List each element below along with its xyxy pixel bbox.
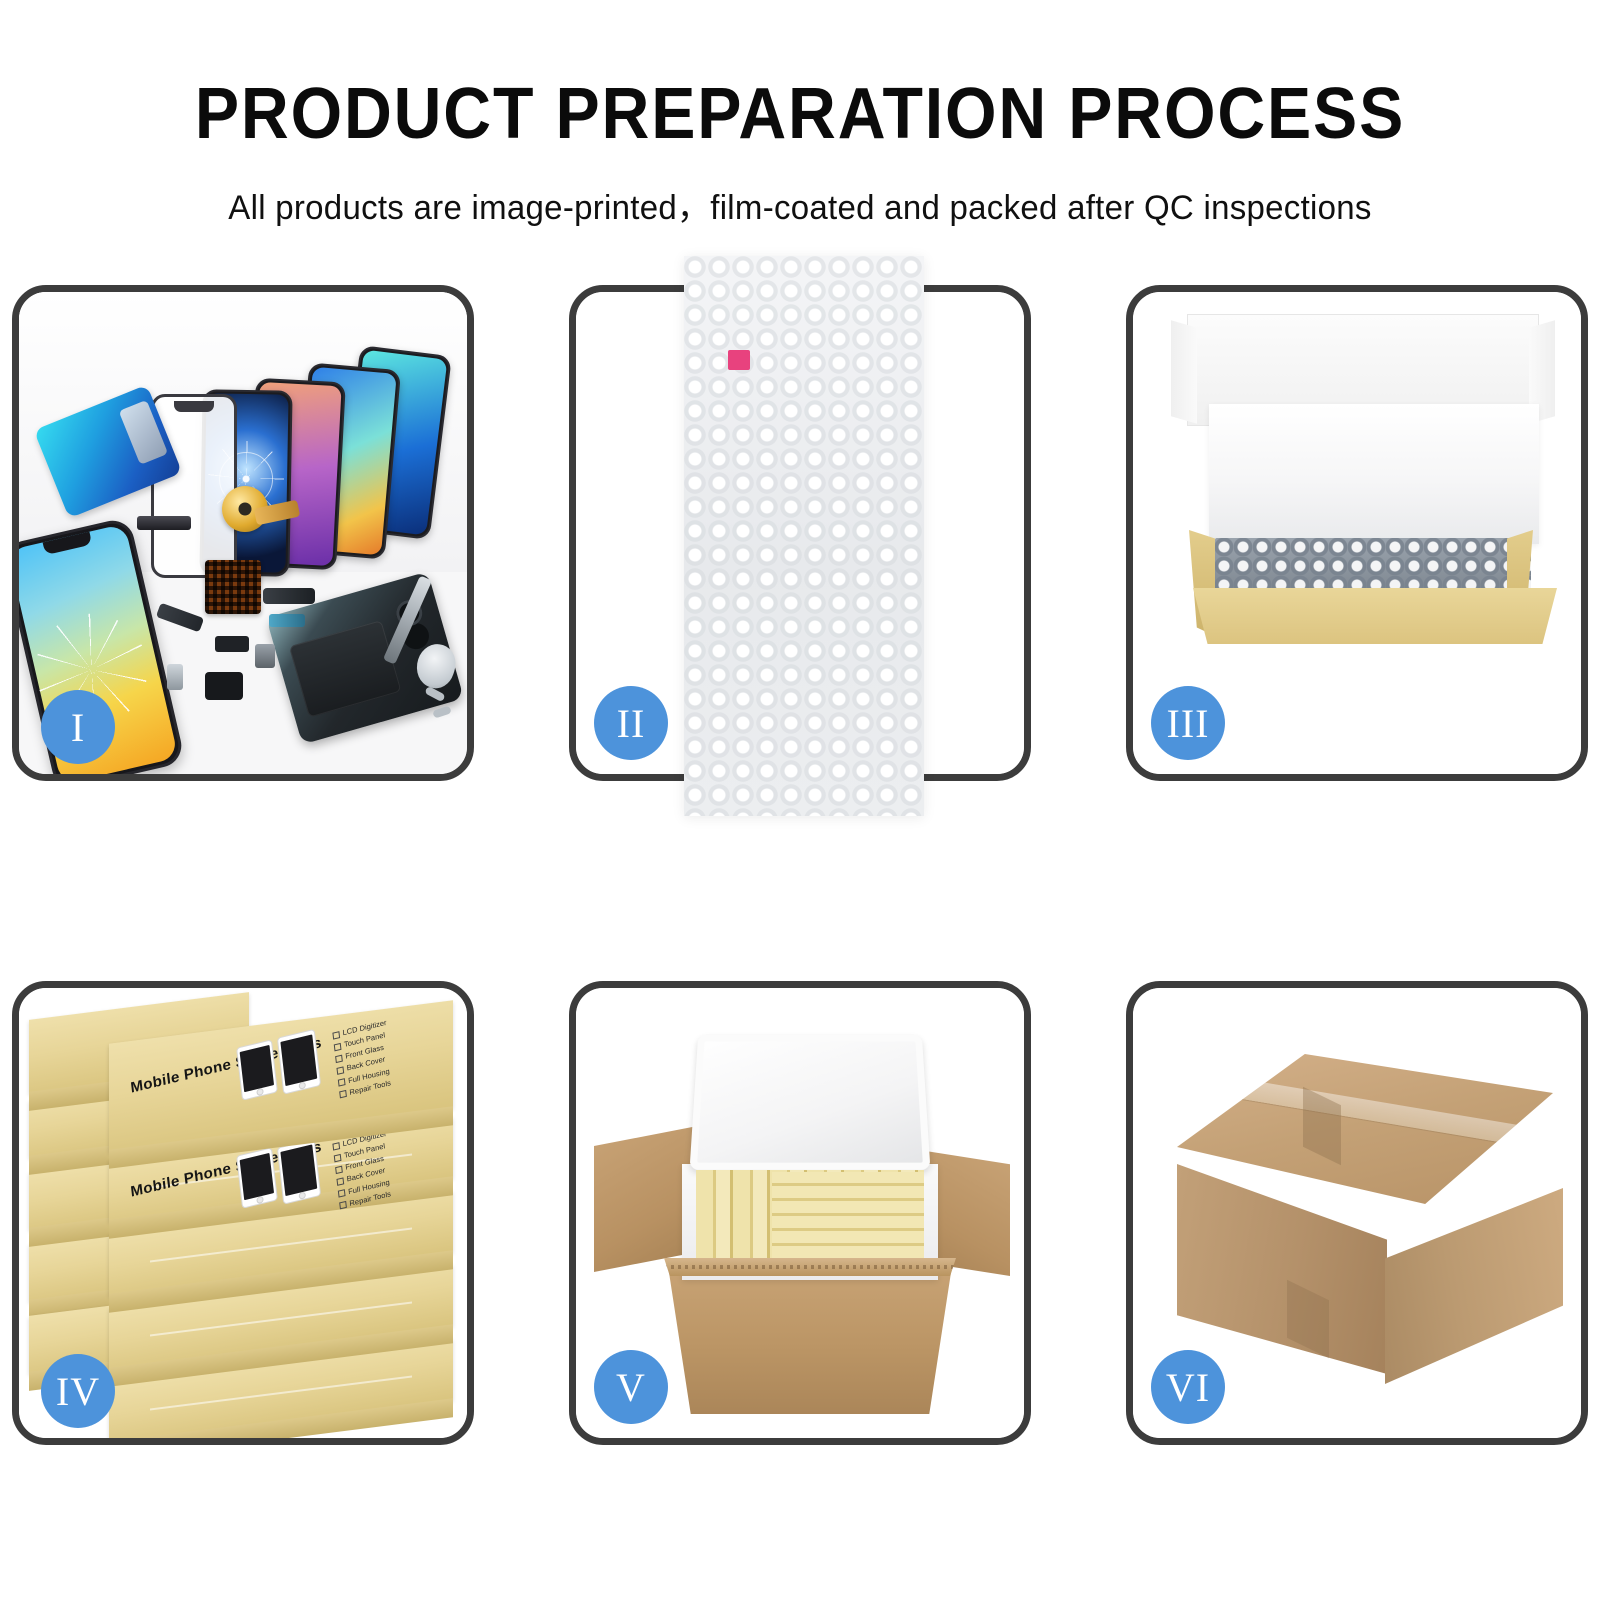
process-step-card-1: I — [12, 285, 474, 781]
step-badge-3: III — [1151, 686, 1225, 760]
page-title: PRODUCT PREPARATION PROCESS — [64, 78, 1536, 150]
process-step-card-5: V — [569, 981, 1031, 1445]
spare-parts-overview-image: I — [19, 292, 467, 774]
gold-box-front-panel — [1193, 588, 1557, 644]
bubble-wrap-fill — [1215, 538, 1531, 596]
qc-sticker — [728, 350, 750, 370]
flex-cable-blue — [269, 614, 305, 627]
flex-cable-left — [156, 603, 204, 633]
carton-rim — [664, 1258, 956, 1276]
retail-box-checklist-upper: LCD Digitizer Touch Panel Front Glass Ba… — [332, 1017, 394, 1101]
foam-cooler-lid — [690, 1035, 931, 1170]
page-subtitle: All products are image-printed，film-coat… — [24, 180, 1576, 229]
step-badge-6: VI — [1151, 1350, 1225, 1424]
gold-boxes-row-back — [772, 1172, 924, 1258]
small-component-b — [255, 644, 275, 668]
packing-tape-strip — [1177, 1054, 1553, 1204]
retail-box-phone-image-a-lower — [237, 1149, 277, 1208]
process-step-grid: I II — [12, 285, 1588, 1445]
foam-sheet-insert — [1209, 404, 1539, 544]
speaker-bar-component — [137, 516, 191, 530]
step-badge-1: I — [41, 690, 115, 764]
retail-box-insert-image: III — [1133, 292, 1581, 774]
page-header: PRODUCT PREPARATION PROCESS All products… — [0, 0, 1600, 229]
shipping-carton-right-face — [1385, 1188, 1563, 1384]
retail-box-checklist-lower: LCD Digitizer Touch Panel Front Glass Ba… — [332, 1128, 394, 1212]
carton-body — [668, 1266, 952, 1414]
boxed-stacks-image: Mobile Phone Spare Parts LCD Digitizer T… — [19, 988, 467, 1438]
shipping-carton-left-face — [1177, 1164, 1387, 1374]
small-component-a — [215, 636, 249, 652]
carton-loading-image: V — [576, 988, 1024, 1438]
process-step-card-6: VI — [1126, 981, 1588, 1445]
small-component-c — [205, 672, 243, 700]
retail-box-phone-image-a-upper — [237, 1041, 277, 1100]
process-step-card-4: Mobile Phone Spare Parts LCD Digitizer T… — [12, 981, 474, 1445]
bubble-wrap-sleeve — [684, 256, 924, 816]
process-step-card-2: II — [569, 285, 1031, 781]
step-badge-4: IV — [41, 1354, 115, 1428]
sealed-shipping-carton-image: VI — [1133, 988, 1581, 1438]
ic-chip-component — [205, 560, 261, 614]
step-badge-5: V — [594, 1350, 668, 1424]
sim-tray-component — [167, 664, 183, 690]
screw-b — [432, 705, 452, 718]
retail-box-phone-image-b-upper — [278, 1030, 320, 1093]
front-glass-panel — [151, 394, 237, 578]
process-step-card-3: III — [1126, 285, 1588, 781]
step-badge-2: II — [594, 686, 668, 760]
bubble-wrap-packing-image: II — [576, 292, 1024, 774]
flex-cable-right — [263, 588, 315, 604]
retail-box-phone-image-b-lower — [278, 1140, 320, 1203]
